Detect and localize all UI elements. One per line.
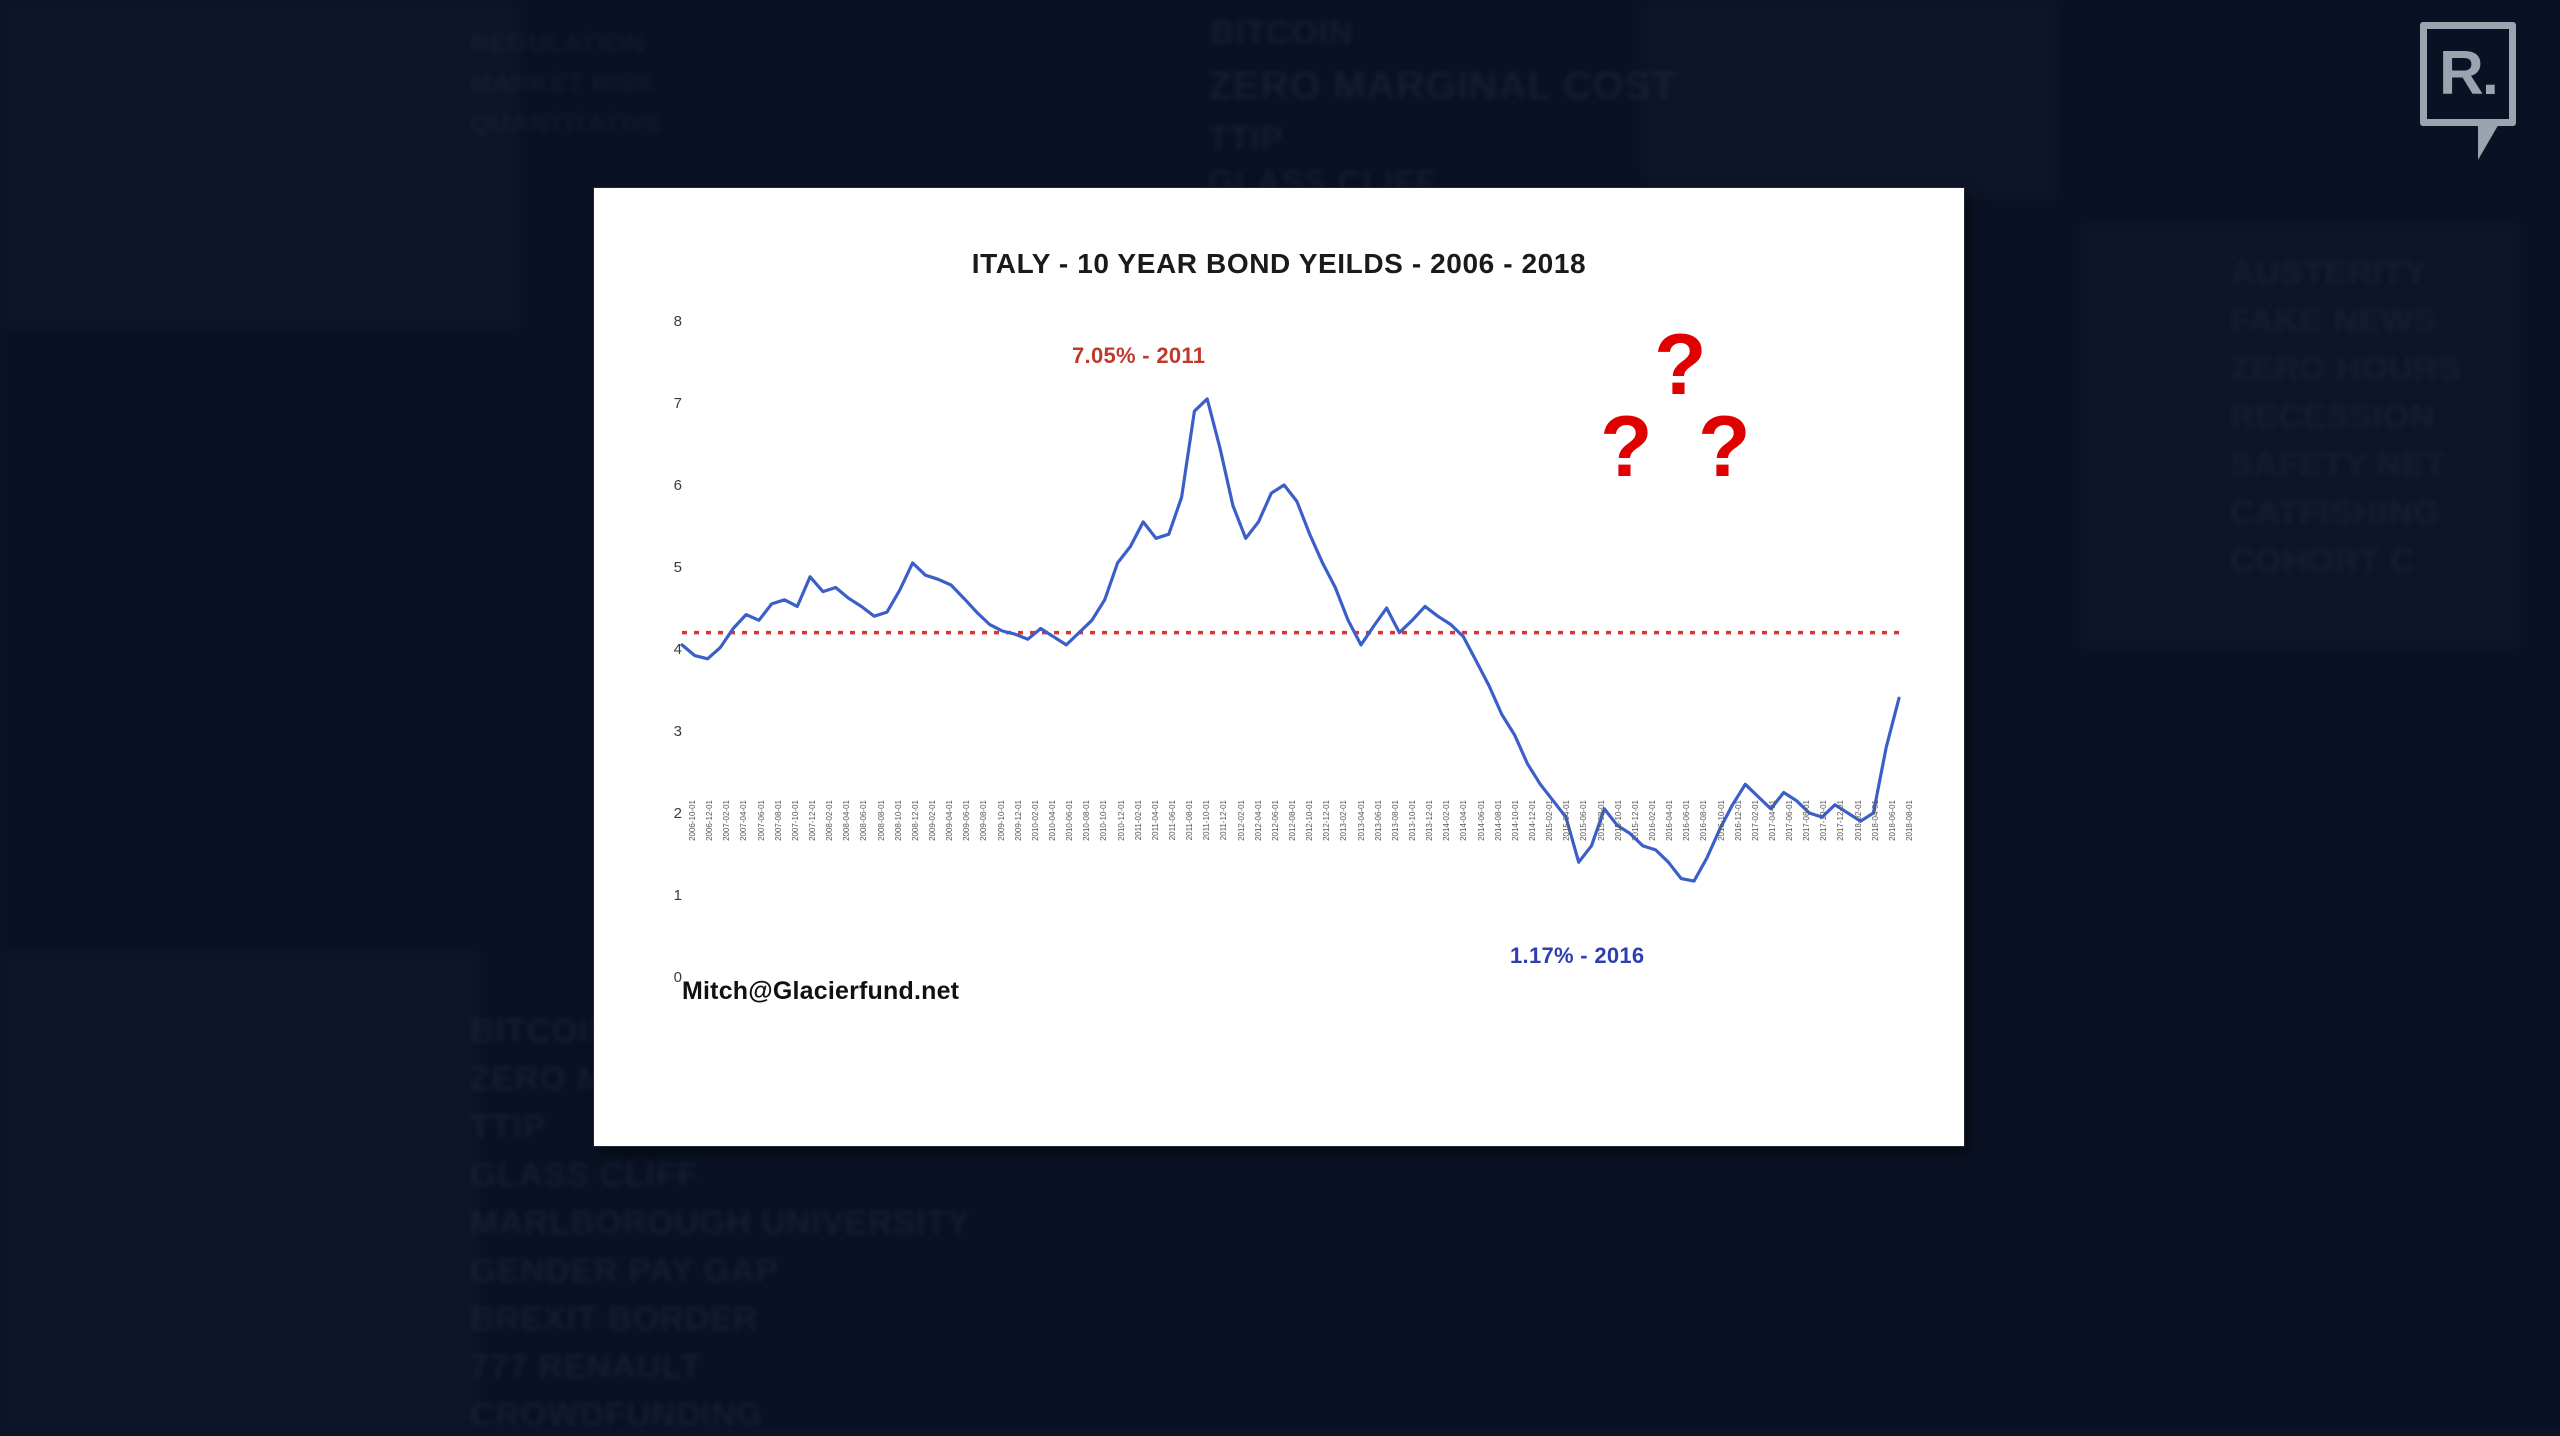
x-axis-tick: 2014-12-01 bbox=[1528, 800, 1537, 841]
x-axis-tick: 2011-04-01 bbox=[1151, 800, 1160, 840]
x-axis-tick: 2017-10-01 bbox=[1819, 800, 1828, 841]
r-dot-logo: R. bbox=[2420, 22, 2528, 162]
x-axis-tick: 2012-04-01 bbox=[1254, 800, 1263, 841]
x-axis-tick: 2012-06-01 bbox=[1271, 800, 1280, 841]
x-axis-tick: 2007-06-01 bbox=[757, 800, 766, 841]
annotation-low: 1.17% - 2016 bbox=[1510, 943, 1644, 969]
backdrop-headline: FAKE NEWS bbox=[2230, 300, 2437, 342]
annotation-high: 7.05% - 2011 bbox=[1072, 343, 1205, 369]
x-axis-tick: 2008-02-01 bbox=[825, 800, 834, 841]
x-axis-tick: 2009-06-01 bbox=[962, 800, 971, 841]
backdrop-headline: ZERO HOURS bbox=[2230, 348, 2462, 390]
x-axis-tick: 2008-06-01 bbox=[859, 800, 868, 841]
x-axis-tick: 2012-10-01 bbox=[1305, 800, 1314, 841]
x-axis-tick: 2015-06-01 bbox=[1579, 800, 1588, 841]
backdrop-headline: QUANTITATIVE bbox=[470, 106, 664, 140]
question-marks-group: ? ? ? bbox=[1594, 322, 1794, 504]
backdrop-headline: CATFISHING bbox=[2230, 492, 2440, 534]
x-axis-tick: 2015-12-01 bbox=[1631, 800, 1640, 841]
x-axis-tick: 2014-06-01 bbox=[1477, 800, 1486, 841]
x-axis-tick: 2011-02-01 bbox=[1134, 800, 1143, 840]
x-axis-tick: 2006-10-01 bbox=[688, 800, 697, 841]
x-axis-tick: 2011-06-01 bbox=[1168, 800, 1177, 840]
backdrop-headline: BITCOIN bbox=[1210, 12, 1353, 54]
x-axis-tick: 2007-12-01 bbox=[808, 800, 817, 841]
backdrop-headline: AUSTERITY bbox=[2230, 252, 2427, 294]
x-axis-tick: 2016-08-01 bbox=[1699, 800, 1708, 841]
x-axis-tick: 2018-02-01 bbox=[1854, 800, 1863, 841]
backdrop-headline: ZERO MARGINAL COST bbox=[1208, 62, 1676, 110]
backdrop-headline: REGULATION bbox=[470, 26, 645, 60]
x-axis-tick: 2009-10-01 bbox=[997, 800, 1006, 841]
x-axis-tick: 2017-12-01 bbox=[1836, 800, 1845, 841]
x-axis-tick: 2012-08-01 bbox=[1288, 800, 1297, 841]
x-axis-tick: 2013-04-01 bbox=[1357, 800, 1366, 841]
logo-speech-tail bbox=[2478, 122, 2507, 160]
x-axis-tick: 2016-04-01 bbox=[1665, 800, 1674, 841]
x-axis-tick: 2010-06-01 bbox=[1065, 800, 1074, 841]
x-axis-tick: 2016-06-01 bbox=[1682, 800, 1691, 841]
x-axis-tick: 2014-02-01 bbox=[1442, 800, 1451, 841]
chart-slide: ITALY - 10 YEAR BOND YEILDS - 2006 - 201… bbox=[594, 188, 1964, 1146]
backdrop-headline: TTIP bbox=[1208, 118, 1284, 160]
x-axis-tick: 2016-02-01 bbox=[1648, 800, 1657, 841]
x-axis-tick: 2014-08-01 bbox=[1494, 800, 1503, 841]
x-axis-tick: 2008-08-01 bbox=[877, 800, 886, 841]
x-axis-tick: 2007-08-01 bbox=[774, 800, 783, 841]
x-axis-tick: 2006-12-01 bbox=[705, 800, 714, 841]
x-axis-tick: 2017-04-01 bbox=[1768, 800, 1777, 841]
x-axis-tick: 2008-12-01 bbox=[911, 800, 920, 841]
x-axis-tick: 2013-10-01 bbox=[1408, 800, 1417, 841]
backdrop-headline: GENDER PAY GAP bbox=[470, 1250, 779, 1292]
x-axis-tick: 2018-08-01 bbox=[1905, 800, 1914, 841]
x-axis-tick: 2010-10-01 bbox=[1099, 800, 1108, 841]
backdrop-panel bbox=[0, 0, 520, 330]
x-axis-tick: 2010-08-01 bbox=[1082, 800, 1091, 841]
x-axis-tick: 2014-04-01 bbox=[1459, 800, 1468, 841]
x-axis-tick: 2007-10-01 bbox=[791, 800, 800, 841]
x-axis-tick: 2011-10-01 bbox=[1202, 800, 1211, 840]
question-mark-icon: ? bbox=[1698, 404, 1751, 490]
backdrop-headline: 777 RENAULT bbox=[470, 1346, 702, 1388]
x-axis-tick: 2009-02-01 bbox=[928, 800, 937, 841]
x-axis-tick: 2007-02-01 bbox=[722, 800, 731, 841]
backdrop-headline: TTIP bbox=[470, 1106, 546, 1148]
x-axis-tick: 2013-06-01 bbox=[1374, 800, 1383, 841]
x-axis-labels: 2006-10-012006-12-012007-02-012007-04-01… bbox=[684, 800, 1899, 940]
x-axis-tick: 2013-02-01 bbox=[1339, 800, 1348, 841]
x-axis-tick: 2013-08-01 bbox=[1391, 800, 1400, 841]
backdrop-panel bbox=[1640, 0, 2060, 200]
backdrop-headline: MARLBOROUGH UNIVERSITY bbox=[470, 1202, 970, 1244]
x-axis-tick: 2011-12-01 bbox=[1219, 800, 1228, 840]
x-axis-tick: 2017-02-01 bbox=[1751, 800, 1760, 841]
question-mark-icon: ? bbox=[1600, 404, 1653, 490]
logo-letter: R. bbox=[2420, 22, 2516, 126]
x-axis-tick: 2013-12-01 bbox=[1425, 800, 1434, 841]
x-axis-tick: 2017-06-01 bbox=[1785, 800, 1794, 841]
x-axis-tick: 2008-10-01 bbox=[894, 800, 903, 841]
x-axis-tick: 2015-08-01 bbox=[1597, 800, 1606, 841]
x-axis-tick: 2016-12-01 bbox=[1734, 800, 1743, 841]
x-axis-tick: 2016-10-01 bbox=[1717, 800, 1726, 841]
x-axis-tick: 2007-04-01 bbox=[739, 800, 748, 841]
x-axis-tick: 2010-04-01 bbox=[1048, 800, 1057, 841]
x-axis-tick: 2009-12-01 bbox=[1014, 800, 1023, 841]
x-axis-tick: 2009-04-01 bbox=[945, 800, 954, 841]
backdrop-headline: SAFETY NET bbox=[2230, 444, 2446, 486]
x-axis-tick: 2018-06-01 bbox=[1888, 800, 1897, 841]
x-axis-tick: 2012-12-01 bbox=[1322, 800, 1331, 841]
question-mark-icon: ? bbox=[1654, 322, 1707, 408]
x-axis-tick: 2010-02-01 bbox=[1031, 800, 1040, 841]
x-axis-tick: 2014-10-01 bbox=[1511, 800, 1520, 841]
x-axis-tick: 2015-02-01 bbox=[1545, 800, 1554, 841]
x-axis-tick: 2015-04-01 bbox=[1562, 800, 1571, 841]
backdrop-headline: RECESSION bbox=[2230, 396, 2435, 438]
x-axis-tick: 2012-02-01 bbox=[1237, 800, 1246, 841]
x-axis-tick: 2008-04-01 bbox=[842, 800, 851, 841]
credit-email: Mitch@Glacierfund.net bbox=[682, 977, 959, 1006]
backdrop-headline: BITCOIN bbox=[470, 1010, 613, 1052]
x-axis-tick: 2010-12-01 bbox=[1117, 800, 1126, 841]
x-axis-tick: 2018-04-01 bbox=[1871, 800, 1880, 841]
x-axis-tick: 2009-08-01 bbox=[979, 800, 988, 841]
backdrop-headline: COHORT C bbox=[2230, 540, 2415, 582]
x-axis-tick: 2017-08-01 bbox=[1802, 800, 1811, 841]
backdrop-headline: BREXIT BORDER bbox=[470, 1298, 758, 1340]
x-axis-tick: 2011-08-01 bbox=[1185, 800, 1194, 840]
x-axis-tick: 2015-10-01 bbox=[1614, 800, 1623, 841]
backdrop-headline: MARKET RISK bbox=[470, 66, 656, 100]
backdrop-headline: CROWDFUNDING bbox=[470, 1394, 763, 1436]
backdrop-panel bbox=[0, 950, 480, 1429]
backdrop-headline: GLASS CLIFF bbox=[470, 1154, 698, 1196]
